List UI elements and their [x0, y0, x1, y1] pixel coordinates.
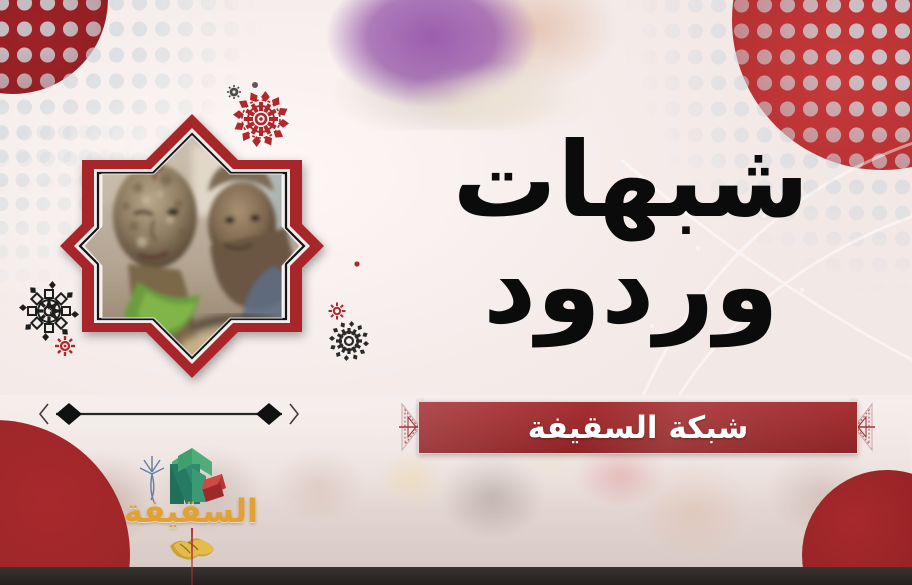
status-badge: شبكة السقيفة: [418, 401, 858, 454]
title-line-2: وردود: [396, 234, 866, 338]
logo-wordmark: السقيفة: [126, 492, 258, 530]
mandala-gear-dark-small-icon: [226, 84, 242, 100]
mandala-gear-dark-medium-icon: [328, 320, 370, 362]
diamond-arrow-divider-icon: [34, 398, 304, 430]
mandala-rosette-red-tiny-icon: [326, 300, 348, 322]
mandala-rosette-red-small-icon: [52, 333, 78, 359]
logo: السقيفة: [126, 440, 258, 570]
mandala-dot-dark-tiny-icon: [250, 80, 260, 90]
logo-stem: [191, 528, 193, 585]
page-title: شبهات وردود: [396, 128, 866, 338]
title-line-1: شبهات: [396, 128, 866, 232]
mandala-dot-red-micro-icon: [352, 259, 362, 269]
photo-frame: [42, 96, 342, 396]
cover-canvas: شبهات وردود شبكة السقيفة: [0, 0, 912, 585]
banner-label: شبكة السقيفة: [528, 410, 749, 446]
